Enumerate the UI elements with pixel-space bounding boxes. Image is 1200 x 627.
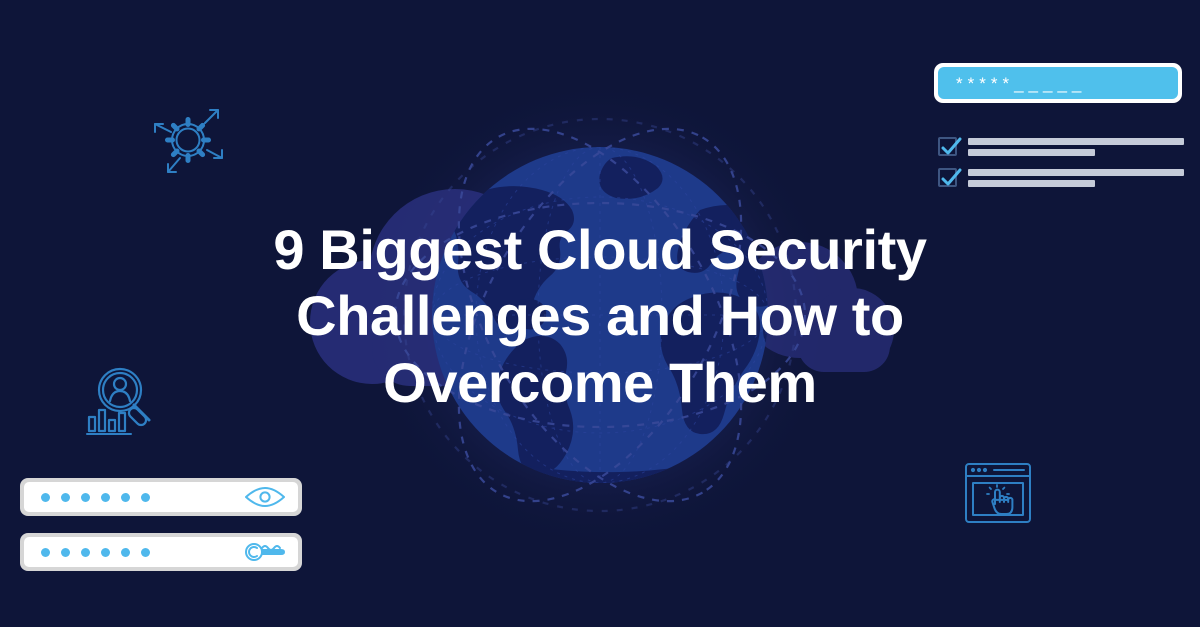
user-avatar-icon (110, 378, 130, 401)
password-field-key-inner[interactable] (24, 537, 298, 567)
password-dot (81, 493, 90, 502)
checklist-item-lines (968, 167, 1184, 187)
password-dot (101, 548, 110, 557)
gear-arrows-icon (146, 98, 230, 187)
text-line-long (968, 169, 1184, 176)
hero-banner: 9 Biggest Cloud Security Challenges and … (0, 0, 1200, 627)
browser-click-icon (962, 458, 1034, 535)
eye-icon[interactable] (244, 486, 286, 508)
check-icon (938, 165, 964, 191)
checkbox-1[interactable] (938, 137, 957, 156)
bar-chart-icon (87, 410, 131, 434)
password-masked-field[interactable]: *****_____ (934, 63, 1182, 103)
password-dot (61, 493, 70, 502)
arrow-se-icon (207, 150, 222, 158)
password-dot (101, 493, 110, 502)
checklist (938, 136, 1184, 198)
password-dot (121, 493, 130, 502)
password-dot (141, 548, 150, 557)
password-field-key[interactable] (20, 533, 302, 571)
arrow-ne-icon (205, 110, 218, 123)
checklist-item[interactable] (938, 136, 1184, 156)
user-analytics-icon (82, 362, 160, 445)
password-field-visibility-inner[interactable] (24, 482, 298, 512)
password-field-visibility[interactable] (20, 478, 302, 516)
password-dot (81, 548, 90, 557)
gear-icon (168, 120, 209, 161)
checklist-item[interactable] (938, 167, 1184, 187)
password-dot (41, 493, 50, 502)
arrow-nw-icon (155, 124, 171, 132)
text-line-long (968, 138, 1184, 145)
password-dots (41, 493, 150, 502)
password-dot (121, 548, 130, 557)
checkbox-2[interactable] (938, 168, 957, 187)
text-line-short (968, 149, 1095, 156)
check-icon (938, 134, 964, 160)
checklist-item-lines (968, 136, 1184, 156)
password-masked-value: *****_____ (956, 75, 1086, 92)
password-dots (41, 548, 150, 557)
text-line-short (968, 180, 1095, 187)
password-dot (141, 493, 150, 502)
arrow-sw-icon (168, 158, 180, 172)
key-icon[interactable] (244, 540, 286, 564)
password-dot (61, 548, 70, 557)
password-masked-field-inner[interactable]: *****_____ (938, 67, 1178, 99)
password-dot (41, 548, 50, 557)
